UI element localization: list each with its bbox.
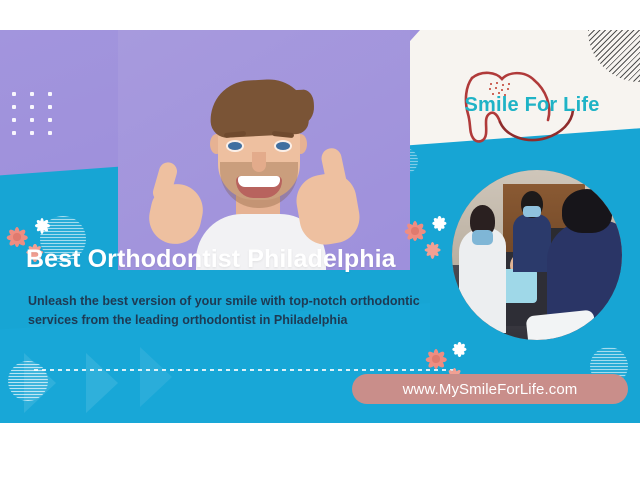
chevron-arrow-decoration: [86, 353, 118, 413]
subheadline-text: Unleash the best version of your smile w…: [28, 292, 428, 330]
smiling-man-thumbs-up-photo: [118, 30, 410, 270]
dental-team-treating-patient-photo: [452, 170, 622, 340]
flower-motif-icon: [452, 342, 467, 357]
brand-logo[interactable]: Smile For Life: [442, 60, 614, 150]
chevron-arrow-decoration: [24, 353, 56, 413]
page-title: Best Orthodontist Philadelphia: [26, 245, 456, 274]
dashed-line-decoration: [34, 369, 454, 371]
banner-stage: Smile For Life Best Orthodontist Philade…: [0, 0, 640, 480]
flower-motif-icon: [432, 216, 447, 231]
logo-wordmark: Smile For Life: [450, 94, 614, 117]
website-url-text: www.MySmileForLife.com: [403, 381, 578, 398]
flower-motif-icon: [404, 220, 426, 242]
flower-motif-icon: [34, 218, 50, 234]
flower-motif-icon: [425, 348, 447, 370]
promo-banner: Smile For Life Best Orthodontist Philade…: [0, 30, 640, 423]
dot-grid-decoration: [12, 92, 52, 135]
chevron-arrow-decoration: [140, 347, 172, 407]
website-url-pill[interactable]: www.MySmileForLife.com: [352, 374, 628, 404]
flower-motif-icon: [6, 226, 28, 248]
